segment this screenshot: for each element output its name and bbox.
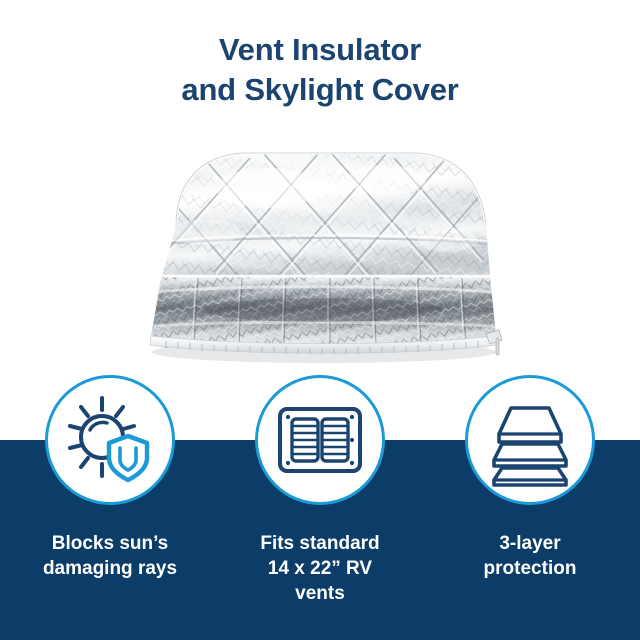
- feature-caption-3-line-1: 3-layer: [425, 531, 635, 556]
- feature-caption-2-line-3: vents: [215, 581, 425, 606]
- feature-caption-1-line-2: damaging rays: [5, 556, 215, 581]
- infographic-canvas: Vent Insulator and Skylight Cover: [0, 0, 640, 640]
- feature-caption-1-line-1: Blocks sun’s: [5, 531, 215, 556]
- feature-icon-circle-1: [45, 375, 175, 505]
- rv-vent-grille-icon: [272, 392, 368, 488]
- feature-caption-3: 3-layer protection: [425, 531, 635, 581]
- feature-icon-circle-3: [465, 375, 595, 505]
- feature-item-blocks-sun: Blocks sun’s damaging rays: [5, 375, 215, 581]
- sun-shield-icon: [62, 392, 158, 488]
- feature-caption-2-line-1: Fits standard: [215, 531, 425, 556]
- feature-caption-2-line-2: 14 x 22” RV: [215, 556, 425, 581]
- feature-caption-2: Fits standard 14 x 22” RV vents: [215, 531, 425, 606]
- feature-item-three-layer-protection: 3-layer protection: [425, 375, 635, 581]
- three-layers-icon: [482, 392, 578, 488]
- feature-icon-circle-2: [255, 375, 385, 505]
- feature-list: Blocks sun’s damaging rays: [0, 0, 640, 640]
- feature-caption-3-line-2: protection: [425, 556, 635, 581]
- feature-caption-1: Blocks sun’s damaging rays: [5, 531, 215, 581]
- feature-item-fits-standard-vents: Fits standard 14 x 22” RV vents: [215, 375, 425, 606]
